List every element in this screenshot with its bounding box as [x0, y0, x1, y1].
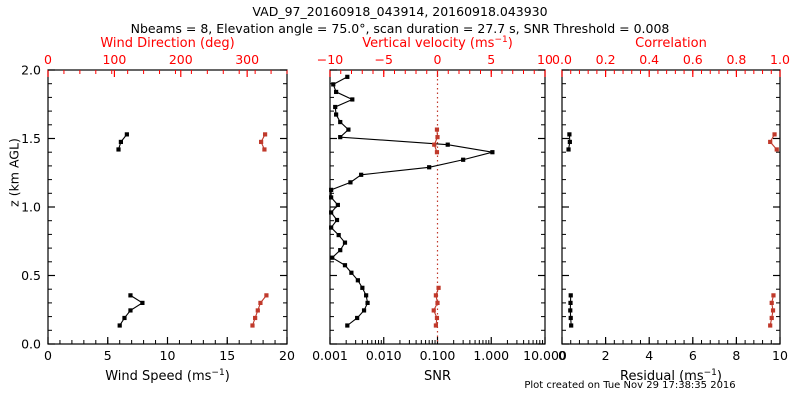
- data-point-wind-speed: [122, 316, 126, 320]
- data-point-wind-direction: [250, 323, 254, 327]
- x-top-axis-title: Correlation: [635, 36, 707, 51]
- x-tick-label: 8: [732, 348, 740, 363]
- data-point-vertical-velocity: [435, 301, 439, 305]
- x-tick-label: 15: [219, 348, 235, 363]
- data-point-wind-speed: [128, 308, 132, 312]
- data-point-snr: [329, 188, 333, 192]
- data-point-snr: [335, 218, 339, 222]
- x-top-tick-label: 0.8: [726, 52, 746, 67]
- data-point-snr: [350, 97, 354, 101]
- data-point-wind-direction: [263, 132, 267, 136]
- data-point-vertical-velocity: [432, 308, 436, 312]
- data-point-correlation: [772, 132, 776, 136]
- data-point-snr: [355, 316, 359, 320]
- x-tick-label: 10: [772, 348, 788, 363]
- data-point-residual: [567, 132, 571, 136]
- data-point-correlation: [771, 308, 775, 312]
- x-tick-label: 20: [279, 348, 295, 363]
- data-point-snr: [345, 323, 349, 327]
- data-point-snr: [334, 112, 338, 116]
- data-point-residual: [568, 140, 572, 144]
- data-point-residual: [569, 316, 573, 320]
- x-top-tick-label: 1.0: [770, 52, 790, 67]
- data-point-wind-direction: [253, 316, 257, 320]
- data-point-snr: [330, 256, 334, 260]
- x-top-axis-title: Vertical velocity (ms−1): [362, 35, 513, 51]
- x-top-axis-title: Wind Direction (deg): [100, 36, 234, 51]
- x-top-tick-label: −5: [375, 52, 393, 67]
- x-top-tick-label: 0: [44, 52, 52, 67]
- data-point-snr: [338, 135, 342, 139]
- x-top-tick-label: 0.4: [639, 52, 659, 67]
- data-point-snr: [365, 301, 369, 305]
- data-point-wind-direction: [262, 147, 266, 151]
- data-point-residual: [568, 301, 572, 305]
- data-point-correlation: [768, 323, 772, 327]
- data-point-vertical-velocity: [435, 316, 439, 320]
- x-top-tick-label: 0.0: [552, 52, 572, 67]
- data-point-wind-speed: [118, 323, 122, 327]
- series-line-vertical-velocity: [434, 130, 437, 153]
- data-point-snr: [338, 248, 342, 252]
- data-point-residual: [568, 308, 572, 312]
- data-point-snr: [337, 233, 341, 237]
- data-point-vertical-velocity: [434, 323, 438, 327]
- series-line-snr: [331, 77, 492, 326]
- plot-frame-3: [562, 70, 780, 344]
- data-point-snr: [331, 82, 335, 86]
- x-tick-label: 1.000: [473, 348, 509, 363]
- data-point-snr: [345, 75, 349, 79]
- data-point-snr: [333, 105, 337, 109]
- x-tick-label: 0.001: [312, 348, 348, 363]
- x-tick-label: 0.010: [366, 348, 402, 363]
- x-top-tick-label: 10: [537, 52, 553, 67]
- data-point-correlation: [770, 316, 774, 320]
- y-tick-label: 0.5: [21, 268, 41, 283]
- data-point-wind-speed: [119, 140, 123, 144]
- data-point-snr: [349, 271, 353, 275]
- y-tick-label: 0.0: [21, 337, 41, 352]
- data-point-wind-speed: [140, 301, 144, 305]
- data-point-wind-direction: [256, 308, 260, 312]
- data-point-snr: [329, 195, 333, 199]
- data-point-snr: [360, 286, 364, 290]
- x-top-tick-label: 0: [434, 52, 442, 67]
- data-point-vertical-velocity: [435, 150, 439, 154]
- data-point-snr: [343, 263, 347, 267]
- data-point-wind-direction: [264, 293, 268, 297]
- x-tick-label: 0: [44, 348, 52, 363]
- x-top-tick-label: 300: [235, 52, 259, 67]
- data-point-snr: [334, 90, 338, 94]
- x-tick-label: 4: [645, 348, 653, 363]
- data-point-snr: [356, 278, 360, 282]
- data-point-snr: [329, 225, 333, 229]
- data-point-residual: [569, 293, 573, 297]
- x-top-tick-label: 200: [169, 52, 193, 67]
- x-top-tick-label: 5: [487, 52, 495, 67]
- data-point-snr: [461, 158, 465, 162]
- plot-frame-1: [48, 70, 287, 344]
- data-point-correlation: [775, 147, 779, 151]
- x-tick-label: 5: [104, 348, 112, 363]
- y-tick-label: 1.5: [21, 131, 41, 146]
- data-point-snr: [490, 150, 494, 154]
- data-point-residual: [569, 323, 573, 327]
- data-point-wind-direction: [259, 140, 263, 144]
- data-point-wind-speed: [116, 147, 120, 151]
- data-point-snr: [329, 210, 333, 214]
- x-tick-label: 2: [602, 348, 610, 363]
- data-point-snr: [446, 143, 450, 147]
- data-point-correlation: [771, 293, 775, 297]
- x-tick-label: 6: [689, 348, 697, 363]
- data-point-vertical-velocity: [432, 143, 436, 147]
- data-point-residual: [566, 147, 570, 151]
- x-tick-label: 10: [160, 348, 176, 363]
- data-point-vertical-velocity: [435, 128, 439, 132]
- data-point-wind-direction: [258, 301, 262, 305]
- data-point-vertical-velocity: [436, 286, 440, 290]
- data-point-snr: [362, 308, 366, 312]
- data-point-snr: [364, 293, 368, 297]
- data-point-snr: [338, 120, 342, 124]
- x-axis-title: Residual (ms−1): [620, 368, 722, 384]
- data-point-snr: [427, 165, 431, 169]
- data-point-snr: [359, 173, 363, 177]
- data-point-wind-speed: [128, 293, 132, 297]
- x-top-tick-label: 0.6: [683, 52, 703, 67]
- y-tick-label: 2.0: [21, 63, 41, 78]
- vad-profile-figure: VAD_97_20160918_043914, 20160918.043930 …: [0, 0, 800, 400]
- data-point-vertical-velocity: [434, 293, 438, 297]
- plot-canvas: 0510152001002003000.00.51.01.52.0Wind Sp…: [0, 0, 800, 400]
- x-top-tick-label: 0.2: [596, 52, 616, 67]
- data-point-correlation: [770, 301, 774, 305]
- x-axis-title: Wind Speed (ms−1): [105, 368, 230, 384]
- data-point-vertical-velocity: [435, 135, 439, 139]
- y-tick-label: 1.0: [21, 200, 41, 215]
- data-point-snr: [336, 203, 340, 207]
- x-top-tick-label: 100: [102, 52, 126, 67]
- x-axis-title: SNR: [424, 369, 451, 384]
- data-point-snr: [343, 241, 347, 245]
- data-point-snr: [348, 180, 352, 184]
- x-top-tick-label: −10: [317, 52, 343, 67]
- data-point-snr: [346, 128, 350, 132]
- data-point-correlation: [768, 140, 772, 144]
- x-tick-label: 0: [558, 348, 566, 363]
- data-point-wind-speed: [125, 132, 129, 136]
- x-tick-label: 0.100: [420, 348, 456, 363]
